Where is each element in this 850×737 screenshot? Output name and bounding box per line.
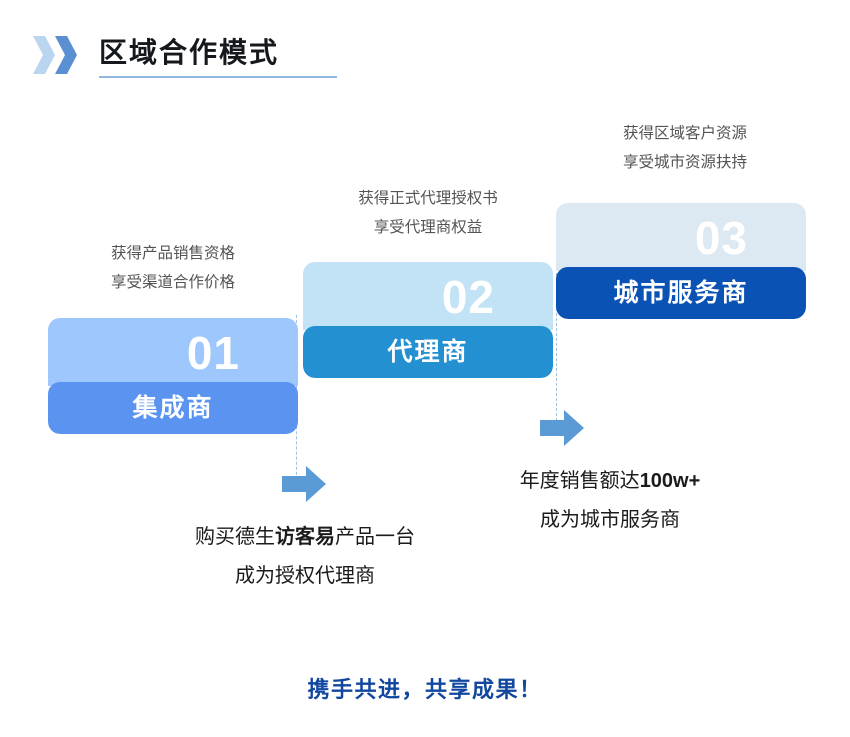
stage-description-2: 获得正式代理授权书 享受代理商权益 [303, 185, 553, 242]
title-underline [99, 76, 337, 78]
transition-caption-2-line-2: 成为城市服务商 [445, 501, 775, 540]
chevron-light-icon [33, 36, 55, 74]
transition-caption-2-bold: 100w+ [640, 470, 701, 492]
stage-card-2-bar: 代理商 [303, 326, 553, 378]
transition-arrow-2-icon [540, 410, 584, 451]
transition-caption-2-prefix: 年度销售额达 [520, 470, 640, 492]
stage-description-1-line-1: 获得产品销售资格 [48, 240, 298, 269]
page-header: 区域合作模式 [33, 36, 337, 80]
chevron-group [33, 36, 77, 74]
transition-caption-2-line-1: 年度销售额达100w+ [445, 462, 775, 501]
stage-card-3-top: 03 [556, 203, 806, 271]
footer-slogan: 携手共进，共享成果！ [0, 672, 850, 704]
transition-caption-1-line-2: 成为授权代理商 [140, 557, 470, 596]
stage-description-2-line-1: 获得正式代理授权书 [303, 185, 553, 214]
stage-card-1[interactable]: 01 集成商 [48, 318, 298, 434]
page-title: 区域合作模式 [99, 38, 337, 69]
chevron-dark-icon [55, 36, 77, 74]
stage-card-3-bar: 城市服务商 [556, 267, 806, 319]
stage-description-3-line-1: 获得区域客户资源 [560, 120, 810, 149]
transition-caption-1-prefix: 购买德生 [195, 526, 275, 548]
page-title-wrap: 区域合作模式 [99, 38, 337, 80]
stage-card-1-body: 01 集成商 [48, 318, 298, 434]
stage-card-2-number: 02 [442, 274, 495, 320]
stage-card-2-top: 02 [303, 262, 553, 330]
stage-description-1: 获得产品销售资格 享受渠道合作价格 [48, 240, 298, 297]
transition-caption-1-line-1: 购买德生访客易产品一台 [140, 518, 470, 557]
stage-card-3-label: 城市服务商 [613, 281, 748, 306]
stage-description-3-line-2: 享受城市资源扶持 [560, 149, 810, 178]
stage-card-2[interactable]: 02 代理商 [303, 262, 553, 378]
stage-card-1-number: 01 [187, 330, 240, 376]
stage-description-2-line-2: 享受代理商权益 [303, 214, 553, 243]
stage-card-1-top: 01 [48, 318, 298, 386]
stage-card-1-bar: 集成商 [48, 382, 298, 434]
transition-caption-1-suffix: 产品一台 [335, 526, 415, 548]
stage-description-3: 获得区域客户资源 享受城市资源扶持 [560, 120, 810, 177]
transition-caption-1: 购买德生访客易产品一台 成为授权代理商 [140, 518, 470, 596]
transition-caption-1-bold: 访客易 [275, 526, 335, 548]
stage-description-1-line-2: 享受渠道合作价格 [48, 269, 298, 298]
transition-arrow-1-icon [282, 466, 326, 507]
stage-card-2-label: 代理商 [387, 340, 468, 365]
stage-card-2-body: 02 代理商 [303, 262, 553, 378]
stage-card-3-body: 03 城市服务商 [556, 203, 806, 319]
transition-caption-2: 年度销售额达100w+ 成为城市服务商 [445, 462, 775, 540]
stage-card-1-label: 集成商 [132, 396, 213, 421]
stage-card-3-number: 03 [695, 215, 748, 261]
stage-card-3[interactable]: 03 城市服务商 [556, 203, 806, 319]
